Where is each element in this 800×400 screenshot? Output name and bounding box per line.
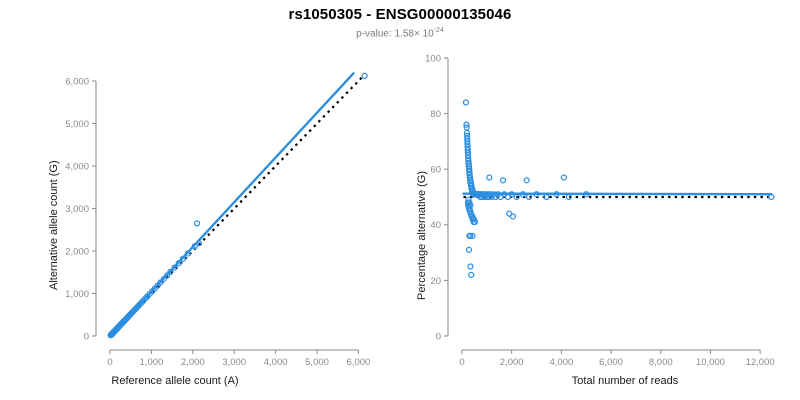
figure-root: rs1050305 - ENSG00000135046 p-value: 1.5… bbox=[0, 0, 800, 400]
svg-text:0: 0 bbox=[436, 331, 441, 342]
svg-text:2,000: 2,000 bbox=[500, 357, 524, 368]
svg-text:1,000: 1,000 bbox=[65, 289, 89, 300]
right-y-axis-title: Percentage alternative (G) bbox=[416, 171, 428, 300]
svg-text:2,000: 2,000 bbox=[65, 246, 89, 257]
left-plot-svg: 01,0002,0003,0004,0005,0006,00001,0002,0… bbox=[0, 0, 400, 400]
right-x-axis-title: Total number of reads bbox=[572, 375, 678, 387]
svg-text:3,000: 3,000 bbox=[222, 357, 246, 368]
svg-text:60: 60 bbox=[430, 165, 441, 176]
right-plot-svg: 02040608010002,0004,0006,0008,00010,0001… bbox=[400, 0, 800, 400]
svg-text:3,000: 3,000 bbox=[65, 204, 89, 215]
svg-text:0: 0 bbox=[459, 357, 464, 368]
svg-text:40: 40 bbox=[430, 220, 441, 231]
svg-text:4,000: 4,000 bbox=[549, 357, 573, 368]
svg-text:6,000: 6,000 bbox=[599, 357, 623, 368]
svg-text:4,000: 4,000 bbox=[264, 357, 288, 368]
svg-text:100: 100 bbox=[425, 53, 441, 64]
svg-text:80: 80 bbox=[430, 109, 441, 120]
svg-text:5,000: 5,000 bbox=[305, 357, 329, 368]
svg-text:1,000: 1,000 bbox=[140, 357, 164, 368]
svg-text:20: 20 bbox=[430, 276, 441, 287]
svg-text:2,000: 2,000 bbox=[181, 357, 205, 368]
svg-text:5,000: 5,000 bbox=[65, 119, 89, 130]
svg-text:10,000: 10,000 bbox=[696, 357, 725, 368]
panel-left-scatter: 01,0002,0003,0004,0005,0006,00001,0002,0… bbox=[0, 0, 400, 400]
left-y-axis-title: Alternative allele count (G) bbox=[48, 160, 60, 290]
svg-text:6,000: 6,000 bbox=[347, 357, 371, 368]
panel-right-scatter: 02040608010002,0004,0006,0008,00010,0001… bbox=[400, 0, 800, 400]
svg-text:4,000: 4,000 bbox=[65, 161, 89, 172]
svg-text:12,000: 12,000 bbox=[746, 357, 775, 368]
svg-text:0: 0 bbox=[84, 331, 89, 342]
svg-text:8,000: 8,000 bbox=[649, 357, 673, 368]
svg-text:6,000: 6,000 bbox=[65, 76, 89, 87]
svg-text:0: 0 bbox=[107, 357, 112, 368]
left-x-axis-title: Reference allele count (A) bbox=[111, 375, 238, 387]
